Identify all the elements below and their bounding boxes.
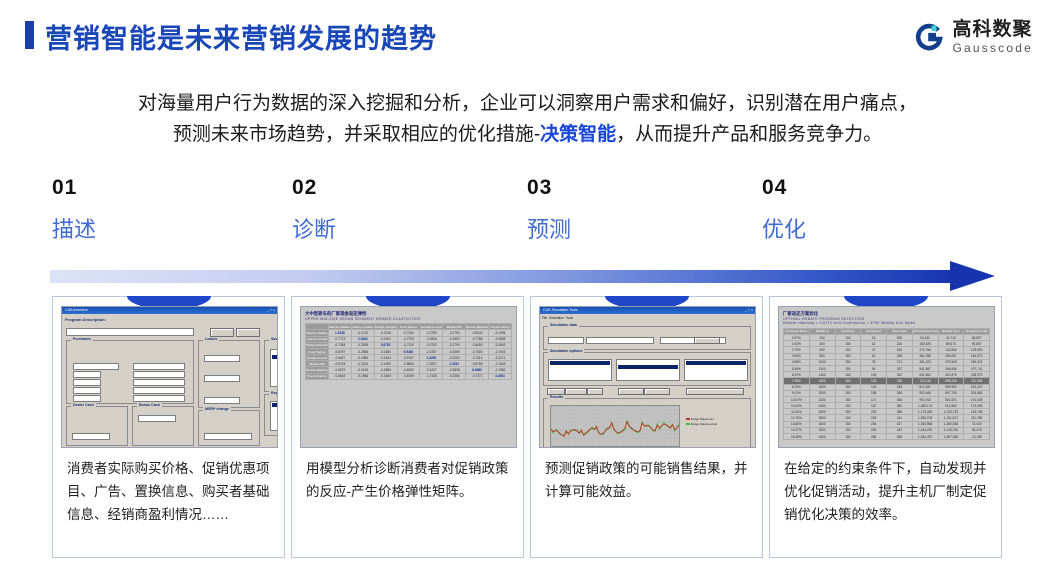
- card-04-caption: 在给定的约束条件下，自动发现并优化促销活动，提升主机厂制定促销优化决策的效率。: [784, 457, 989, 527]
- step-02-label: 诊断: [292, 212, 522, 244]
- step-01: 01 描述: [52, 176, 282, 244]
- lead-line-2-a: 预测未来市场趋势，并采取相应的优化措施-: [173, 124, 540, 145]
- card-01-describe[interactable]: CUB incentive_ □ × Program Description: …: [52, 296, 285, 558]
- progress-arrow: [50, 262, 1000, 292]
- step-03: 03 预测: [527, 176, 757, 244]
- step-04: 04 优化: [762, 176, 992, 244]
- card-03-screenshot: CUB Simulation Tools_ □ × File Simulatio…: [539, 306, 756, 448]
- lead-line-2: 预测未来市场趋势，并采取相应的优化措施-决策智能，从而提升产品和服务竞争力。: [50, 119, 1005, 150]
- logo-title-cn: 高科数聚: [952, 20, 1033, 39]
- page-title: 营销智能是未来营销发展的趋势: [45, 17, 437, 56]
- step-03-label: 预测: [527, 212, 757, 244]
- title-accent-bar: [25, 21, 34, 49]
- logo-title-en: Gausscode: [952, 42, 1033, 54]
- lead-highlight: 决策智能: [540, 124, 616, 145]
- step-01-number: 01: [52, 176, 282, 200]
- lead-line-1: 对海量用户行为数据的深入挖掘和分析，企业可以洞察用户需求和偏好，识别潜在用户痛点…: [50, 88, 1005, 119]
- step-03-number: 03: [527, 176, 757, 200]
- step-01-label: 描述: [52, 212, 282, 244]
- card-02-diagnose[interactable]: 大中型轿车的厂家现金返还弹性 UPPER MID-SIZE SEDAN SEGM…: [291, 296, 524, 558]
- card-01-caption: 消费者实际购买价格、促销优惠项目、广告、置换信息、购买者基础信息、经销商盈利情况…: [67, 457, 272, 527]
- step-labels: 01 描述 02 诊断 03 预测 04 优化: [52, 176, 1002, 251]
- step-02: 02 诊断: [292, 176, 522, 244]
- card-row: CUB incentive_ □ × Program Description: …: [52, 296, 1002, 560]
- step-04-number: 04: [762, 176, 992, 200]
- card-02-screenshot: 大中型轿车的厂家现金返还弹性 UPPER MID-SIZE SEDAN SEGM…: [300, 306, 517, 448]
- card-03-predict[interactable]: CUB Simulation Tools_ □ × File Simulatio…: [530, 296, 763, 558]
- card-02-caption: 用模型分析诊断消费者对促销政策的反应-产生价格弹性矩阵。: [306, 457, 511, 503]
- lead-line-2-b: ，从而提升产品和服务竞争力。: [616, 124, 882, 145]
- step-04-label: 优化: [762, 212, 992, 244]
- lead-paragraph: 对海量用户行为数据的深入挖掘和分析，企业可以洞察用户需求和偏好，识别潜在用户痛点…: [50, 88, 1005, 151]
- card-01-screenshot: CUB incentive_ □ × Program Description: …: [61, 306, 278, 448]
- optimal-rebate-table: Customer PriceRebate $IncentiveIncrement…: [783, 328, 990, 440]
- card-04-table-meta: Rebate elasticity = 0.8712 Unit Contribu…: [783, 321, 990, 326]
- card-04-optimize[interactable]: 厂家返还方案优化 OPTIMAL REBATE PROGRAM SELECTIO…: [769, 296, 1002, 558]
- elasticity-matrix: Buick LeSabreChevy LuminaDodge IntrepidF…: [305, 323, 512, 380]
- step-02-number: 02: [292, 176, 522, 200]
- gausscode-logo-icon: [914, 22, 945, 53]
- card-02-table-title-en: UPPER MID-SIZE SEDAN SEGMENT REBATE ELAS…: [305, 317, 512, 322]
- arrow-head-icon: [950, 261, 995, 291]
- card-03-caption: 预测促销政策的可能销售结果，并计算可能效益。: [545, 457, 750, 503]
- arrow-body: [50, 270, 955, 283]
- brand-logo: 高科数聚 Gausscode: [914, 20, 1033, 54]
- slide-root: 营销智能是未来营销发展的趋势 高科数聚 Gausscode 对海量用户行为数据的…: [0, 0, 1051, 586]
- card-04-screenshot: 厂家返还方案优化 OPTIMAL REBATE PROGRAM SELECTIO…: [778, 306, 995, 448]
- slide-header: 营销智能是未来营销发展的趋势 高科数聚 Gausscode: [0, 0, 1051, 72]
